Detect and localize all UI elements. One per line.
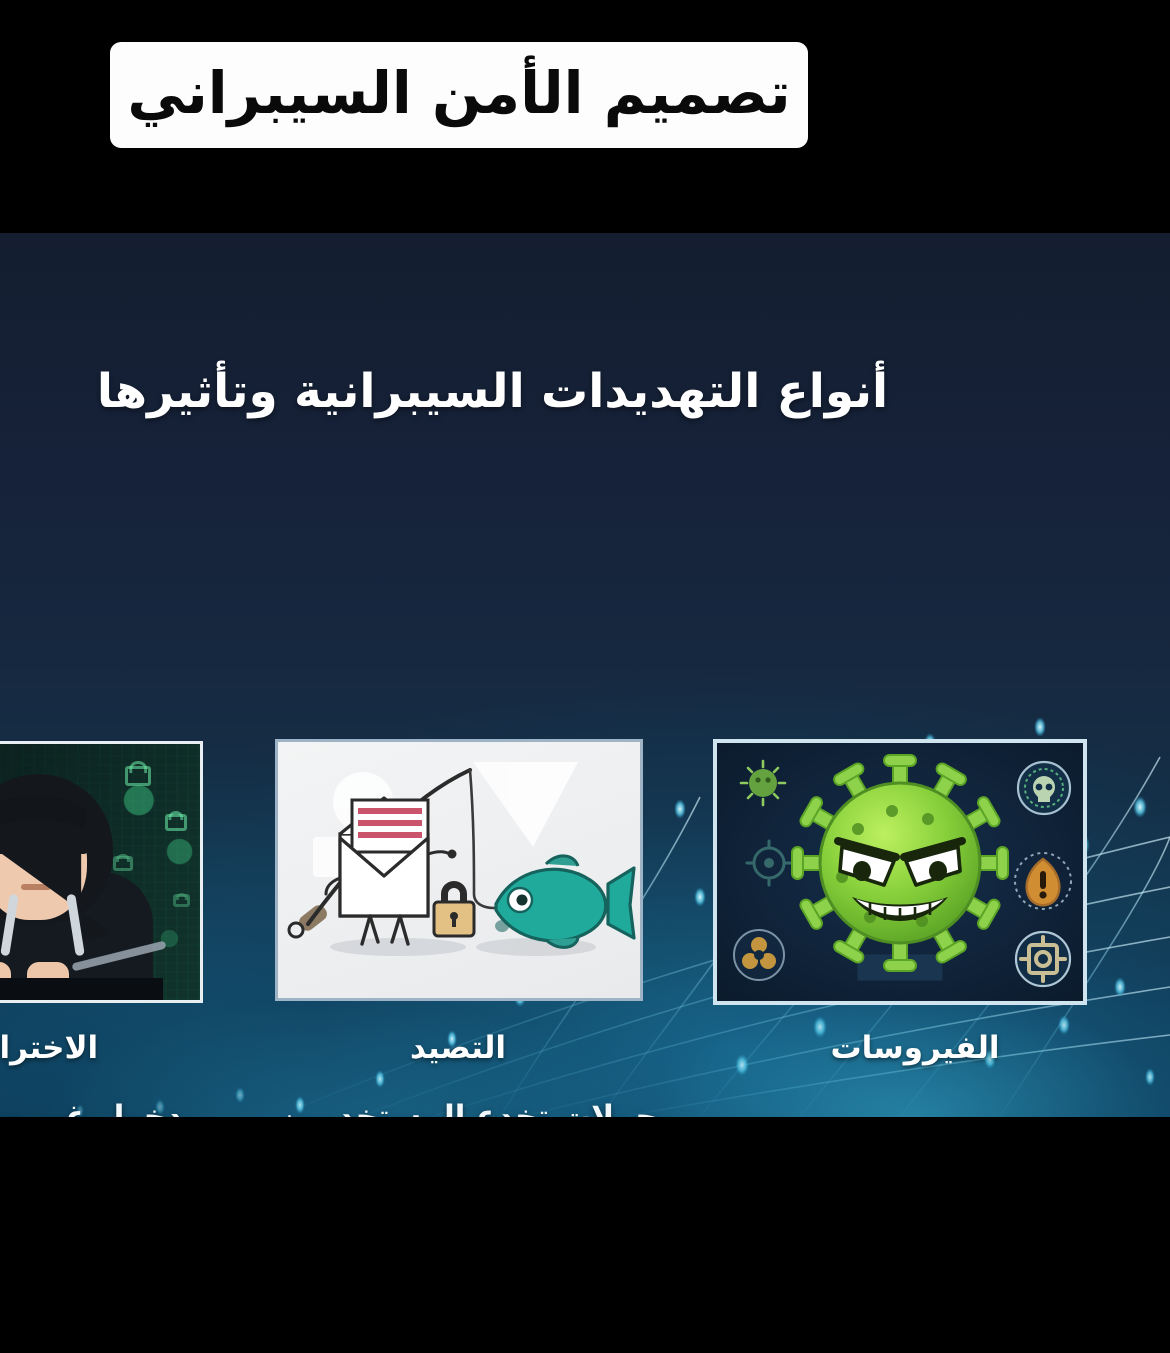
- threat-title-virus: الفيروسات: [795, 1030, 1035, 1066]
- lock-icon: [173, 894, 190, 907]
- germ-icon: [747, 841, 791, 885]
- phishing-icon: [278, 742, 640, 998]
- slide-canvas: أنواع التهديدات السيبرانية وتأثيرها: [0, 233, 1170, 1117]
- threat-title-hacker: الاختراق: [0, 1030, 200, 1066]
- lock-icon: [165, 814, 187, 831]
- image-frame: [0, 741, 203, 1003]
- shadow: [330, 938, 466, 956]
- main-virus-body: [792, 755, 1008, 971]
- image-frame: [275, 739, 643, 1001]
- biohazard-icon: [734, 930, 784, 980]
- threat-description-virus: برامج خبيثة تتسبب في أضرار جسيمة للأنظمة: [710, 1115, 1110, 1117]
- skull-badge-icon: [1018, 762, 1070, 814]
- screenshot-root: تصميم الأمن السيبراني: [0, 0, 1170, 1353]
- phishing-illustration: [278, 742, 640, 998]
- threat-description-hacker: دخول غير مصرح به إلى الأنظمة والبيانات: [0, 1097, 184, 1117]
- desk-keyboard: [0, 978, 163, 1000]
- target-badge-icon: [1016, 932, 1070, 986]
- fish-icon: [495, 856, 634, 947]
- virus-illustration: █████: [717, 743, 1083, 1001]
- banner-title-text: تصميم الأمن السيبراني: [127, 62, 790, 125]
- threat-title-phishing: التصيد: [338, 1030, 578, 1066]
- threat-description-phishing: حملات تخدع المستخدمين لسرقة المعلومات ال…: [248, 1097, 688, 1117]
- padlock-icon: [434, 881, 474, 936]
- image-frame: █████: [713, 739, 1087, 1005]
- warning-icon: [1015, 853, 1071, 909]
- page-title: أنواع التهديدات السيبرانية وتأثيرها: [0, 366, 985, 419]
- hacker-figure: [0, 768, 149, 1000]
- threat-image-virus: █████: [713, 739, 1087, 1005]
- title-banner: تصميم الأمن السيبراني: [110, 42, 808, 148]
- hacker-icon: [0, 744, 200, 1000]
- small-virus-icon: [741, 761, 785, 805]
- virus-icon: █████: [717, 743, 1083, 1001]
- threat-image-hacker: [0, 741, 203, 1003]
- threat-image-phishing: [275, 739, 643, 1001]
- letter-paper: [352, 800, 428, 852]
